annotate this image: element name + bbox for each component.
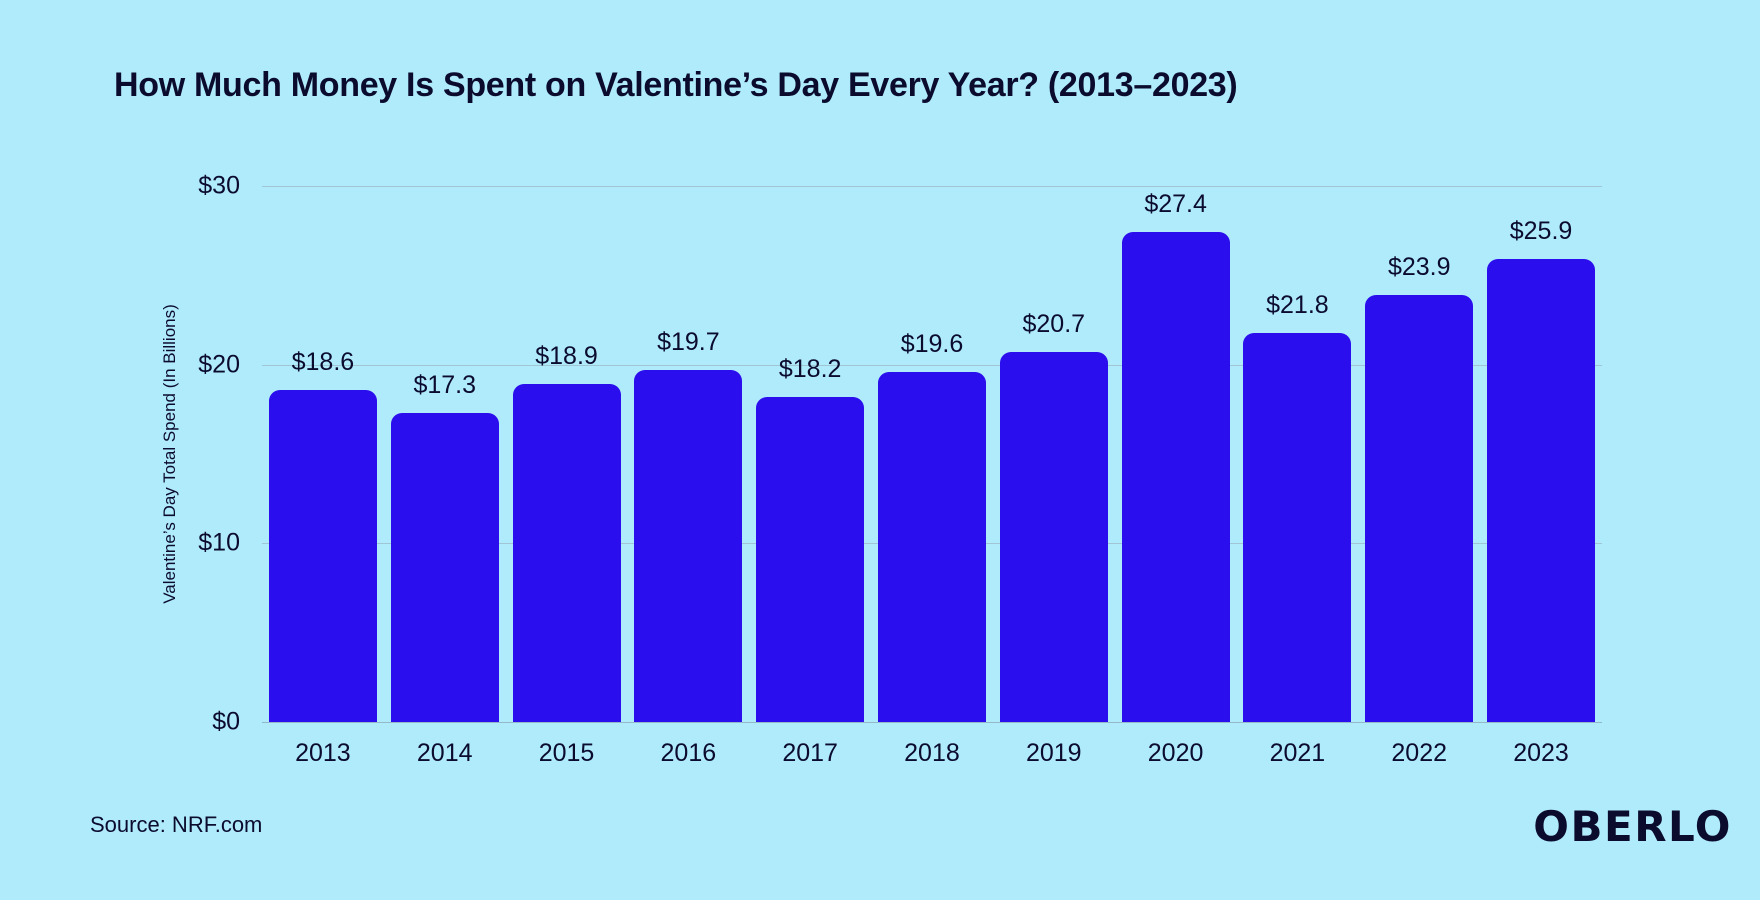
bar-value-label: $20.7 bbox=[1023, 310, 1086, 339]
bar-group-2023: $25.92023 bbox=[1480, 186, 1602, 722]
bar-value-label: $18.9 bbox=[535, 342, 598, 371]
source-note: Source: NRF.com bbox=[90, 812, 262, 838]
y-axis-tick-label: $20 bbox=[198, 350, 240, 379]
x-axis-tick-label: 2022 bbox=[1391, 739, 1447, 768]
bar-2023[interactable] bbox=[1487, 259, 1595, 722]
y-axis-tick-label: $30 bbox=[198, 172, 240, 201]
x-axis-tick-label: 2013 bbox=[295, 739, 351, 768]
bar-2018[interactable] bbox=[878, 372, 986, 722]
x-axis-tick-label: 2017 bbox=[782, 739, 838, 768]
page-title: How Much Money Is Spent on Valentine’s D… bbox=[114, 66, 1237, 105]
gridline-0 bbox=[262, 722, 1602, 723]
bar-group-2014: $17.32014 bbox=[384, 186, 506, 722]
y-axis-title: Valentine’s Day Total Spend (In Billions… bbox=[155, 186, 185, 722]
bar-value-label: $27.4 bbox=[1144, 190, 1207, 219]
x-axis-tick-label: 2016 bbox=[661, 739, 717, 768]
bar-group-2021: $21.82021 bbox=[1237, 186, 1359, 722]
bar-2020[interactable] bbox=[1122, 232, 1230, 722]
bar-value-label: $25.9 bbox=[1510, 217, 1573, 246]
bar-2022[interactable] bbox=[1365, 295, 1473, 722]
bar-value-label: $19.7 bbox=[657, 328, 720, 357]
bar-value-label: $18.6 bbox=[292, 348, 355, 377]
bar-2015[interactable] bbox=[513, 384, 621, 722]
bar-series: $18.62013$17.32014$18.92015$19.72016$18.… bbox=[262, 186, 1602, 722]
bar-group-2016: $19.72016 bbox=[627, 186, 749, 722]
x-axis-tick-label: 2018 bbox=[904, 739, 960, 768]
bar-2016[interactable] bbox=[634, 370, 742, 722]
bar-2013[interactable] bbox=[269, 390, 377, 722]
bar-value-label: $17.3 bbox=[413, 371, 476, 400]
bar-group-2019: $20.72019 bbox=[993, 186, 1115, 722]
bar-group-2022: $23.92022 bbox=[1358, 186, 1480, 722]
bar-group-2015: $18.92015 bbox=[506, 186, 628, 722]
bar-group-2017: $18.22017 bbox=[749, 186, 871, 722]
bar-2017[interactable] bbox=[756, 397, 864, 722]
bar-2021[interactable] bbox=[1243, 333, 1351, 722]
y-axis-tick-label: $10 bbox=[198, 529, 240, 558]
bar-group-2013: $18.62013 bbox=[262, 186, 384, 722]
x-axis-tick-label: 2021 bbox=[1270, 739, 1326, 768]
x-axis-tick-label: 2020 bbox=[1148, 739, 1204, 768]
y-axis-tick-label: $0 bbox=[212, 708, 240, 737]
x-axis-tick-label: 2014 bbox=[417, 739, 473, 768]
bar-value-label: $19.6 bbox=[901, 330, 964, 359]
bar-2019[interactable] bbox=[1000, 352, 1108, 722]
y-axis-title-label: Valentine’s Day Total Spend (In Billions… bbox=[160, 304, 180, 604]
x-axis-tick-label: 2023 bbox=[1513, 739, 1569, 768]
x-axis-tick-label: 2015 bbox=[539, 739, 595, 768]
chart-plot-area: $0$10$20$30 $18.62013$17.32014$18.92015$… bbox=[262, 186, 1602, 722]
bar-value-label: $18.2 bbox=[779, 355, 842, 384]
bar-group-2020: $27.42020 bbox=[1115, 186, 1237, 722]
bar-2014[interactable] bbox=[391, 413, 499, 722]
x-axis-tick-label: 2019 bbox=[1026, 739, 1082, 768]
bar-value-label: $23.9 bbox=[1388, 253, 1451, 282]
bar-group-2018: $19.62018 bbox=[871, 186, 993, 722]
oberlo-logo: OBERLO bbox=[1533, 802, 1732, 851]
bar-value-label: $21.8 bbox=[1266, 291, 1329, 320]
